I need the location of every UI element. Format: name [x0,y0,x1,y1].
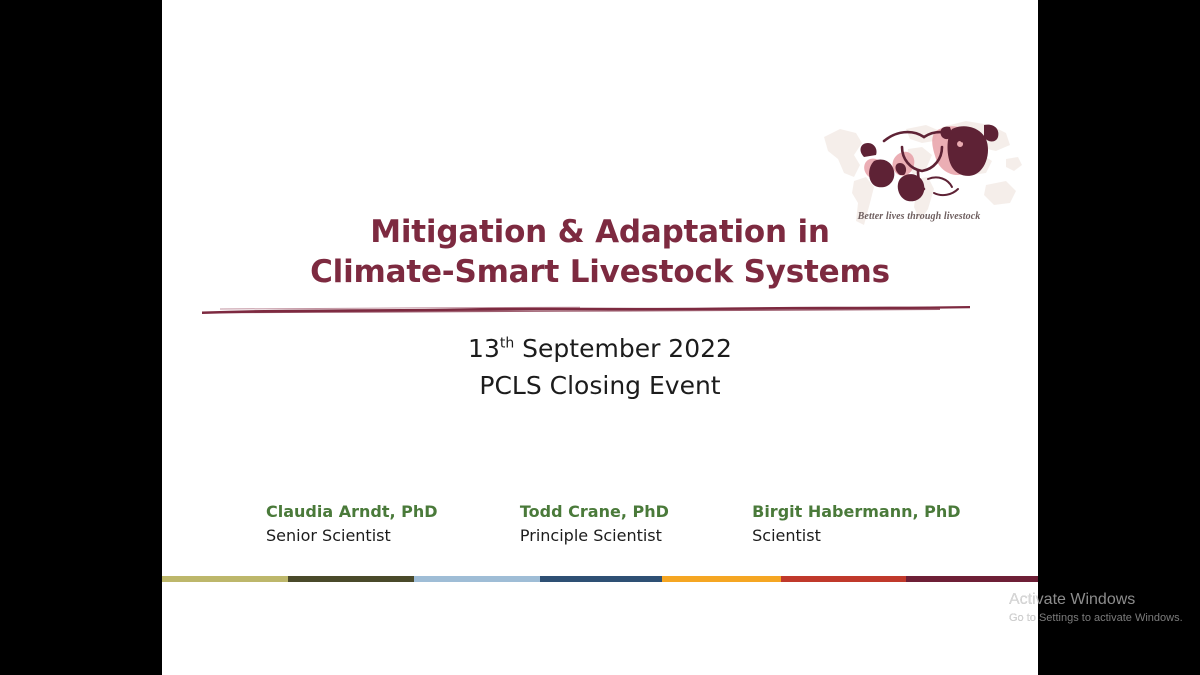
color-bar-segment-red-orange [781,576,905,582]
date-ordinal-suffix: th [500,336,514,352]
date-day: 13 [468,334,500,363]
livestock-illustration [840,113,1010,215]
presenter-name: Todd Crane, PhD [520,500,752,524]
event-date: 13th September 2022 [162,330,1038,367]
presenter-role: Senior Scientist [266,524,520,548]
date-month-year: September 2022 [514,334,732,363]
presenter-item: Claudia Arndt, PhD Senior Scientist [266,500,520,548]
event-name: PCLS Closing Event [162,367,1038,404]
color-bar-segment-dark-olive [288,576,414,582]
video-player-frame: Better lives through livestock Mitigatio… [0,0,1200,675]
title-line-2: Climate-Smart Livestock Systems [162,252,1038,292]
slide-title: Mitigation & Adaptation in Climate-Smart… [162,212,1038,292]
presenter-list: Claudia Arndt, PhD Senior Scientist Todd… [266,500,1006,548]
presenter-role: Principle Scientist [520,524,752,548]
presenter-name: Birgit Habermann, PhD [752,500,1006,524]
color-bar-segment-light-blue [414,576,540,582]
presenter-item: Birgit Habermann, PhD Scientist [752,500,1006,548]
title-line-1: Mitigation & Adaptation in [162,212,1038,252]
presenter-name: Claudia Arndt, PhD [266,500,520,524]
color-bar-segment-amber [662,576,781,582]
presentation-slide: Better lives through livestock Mitigatio… [162,0,1038,675]
event-details: 13th September 2022 PCLS Closing Event [162,330,1038,404]
color-bar-segment-maroon [906,576,1038,582]
brush-stroke-divider [200,302,972,316]
presenter-role: Scientist [752,524,1006,548]
color-bar-segment-dark-blue [540,576,662,582]
color-bar-segment-khaki [162,576,288,582]
presenter-item: Todd Crane, PhD Principle Scientist [520,500,752,548]
slide-color-bar [162,576,1038,582]
